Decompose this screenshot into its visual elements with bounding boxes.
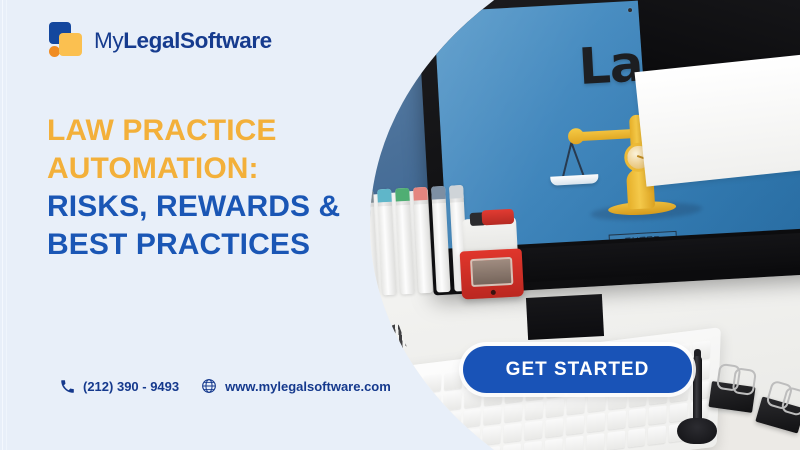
- striped-pen: [357, 323, 407, 362]
- phone-icon: [60, 379, 75, 394]
- marketing-banner: Law ENTER Cli: [0, 0, 800, 450]
- red-pencil-sharpener: [458, 216, 524, 299]
- logo-text-rest: LegalSoftware: [123, 28, 272, 53]
- page-title: LAW PRACTICE AUTOMATION: RISKS, REWARDS …: [47, 112, 377, 264]
- left-edge-accent: [2, 0, 3, 450]
- globe-icon: [201, 378, 217, 394]
- monitor-stand: [526, 294, 604, 340]
- paper-sheet: [635, 52, 800, 186]
- get-started-button[interactable]: GET STARTED: [463, 346, 692, 393]
- webcam-icon: [628, 8, 632, 12]
- brand-logo-text: MyLegalSoftware: [94, 28, 272, 54]
- headline-line-1: LAW PRACTICE AUTOMATION:: [47, 112, 377, 188]
- left-edge-accent-2: [6, 0, 7, 450]
- phone-number[interactable]: (212) 390 - 9493: [83, 379, 179, 394]
- website-url[interactable]: www.mylegalsoftware.com: [225, 379, 391, 394]
- logo-text-my: My: [94, 28, 123, 53]
- contact-bar: (212) 390 - 9493 www.mylegalsoftware.com: [60, 378, 391, 394]
- headline-line-2: RISKS, REWARDS & BEST PRACTICES: [47, 188, 377, 264]
- brand-logo[interactable]: MyLegalSoftware: [47, 22, 272, 60]
- two-squares-dot-logo-icon: [47, 22, 83, 60]
- pen-holder: [690, 356, 704, 442]
